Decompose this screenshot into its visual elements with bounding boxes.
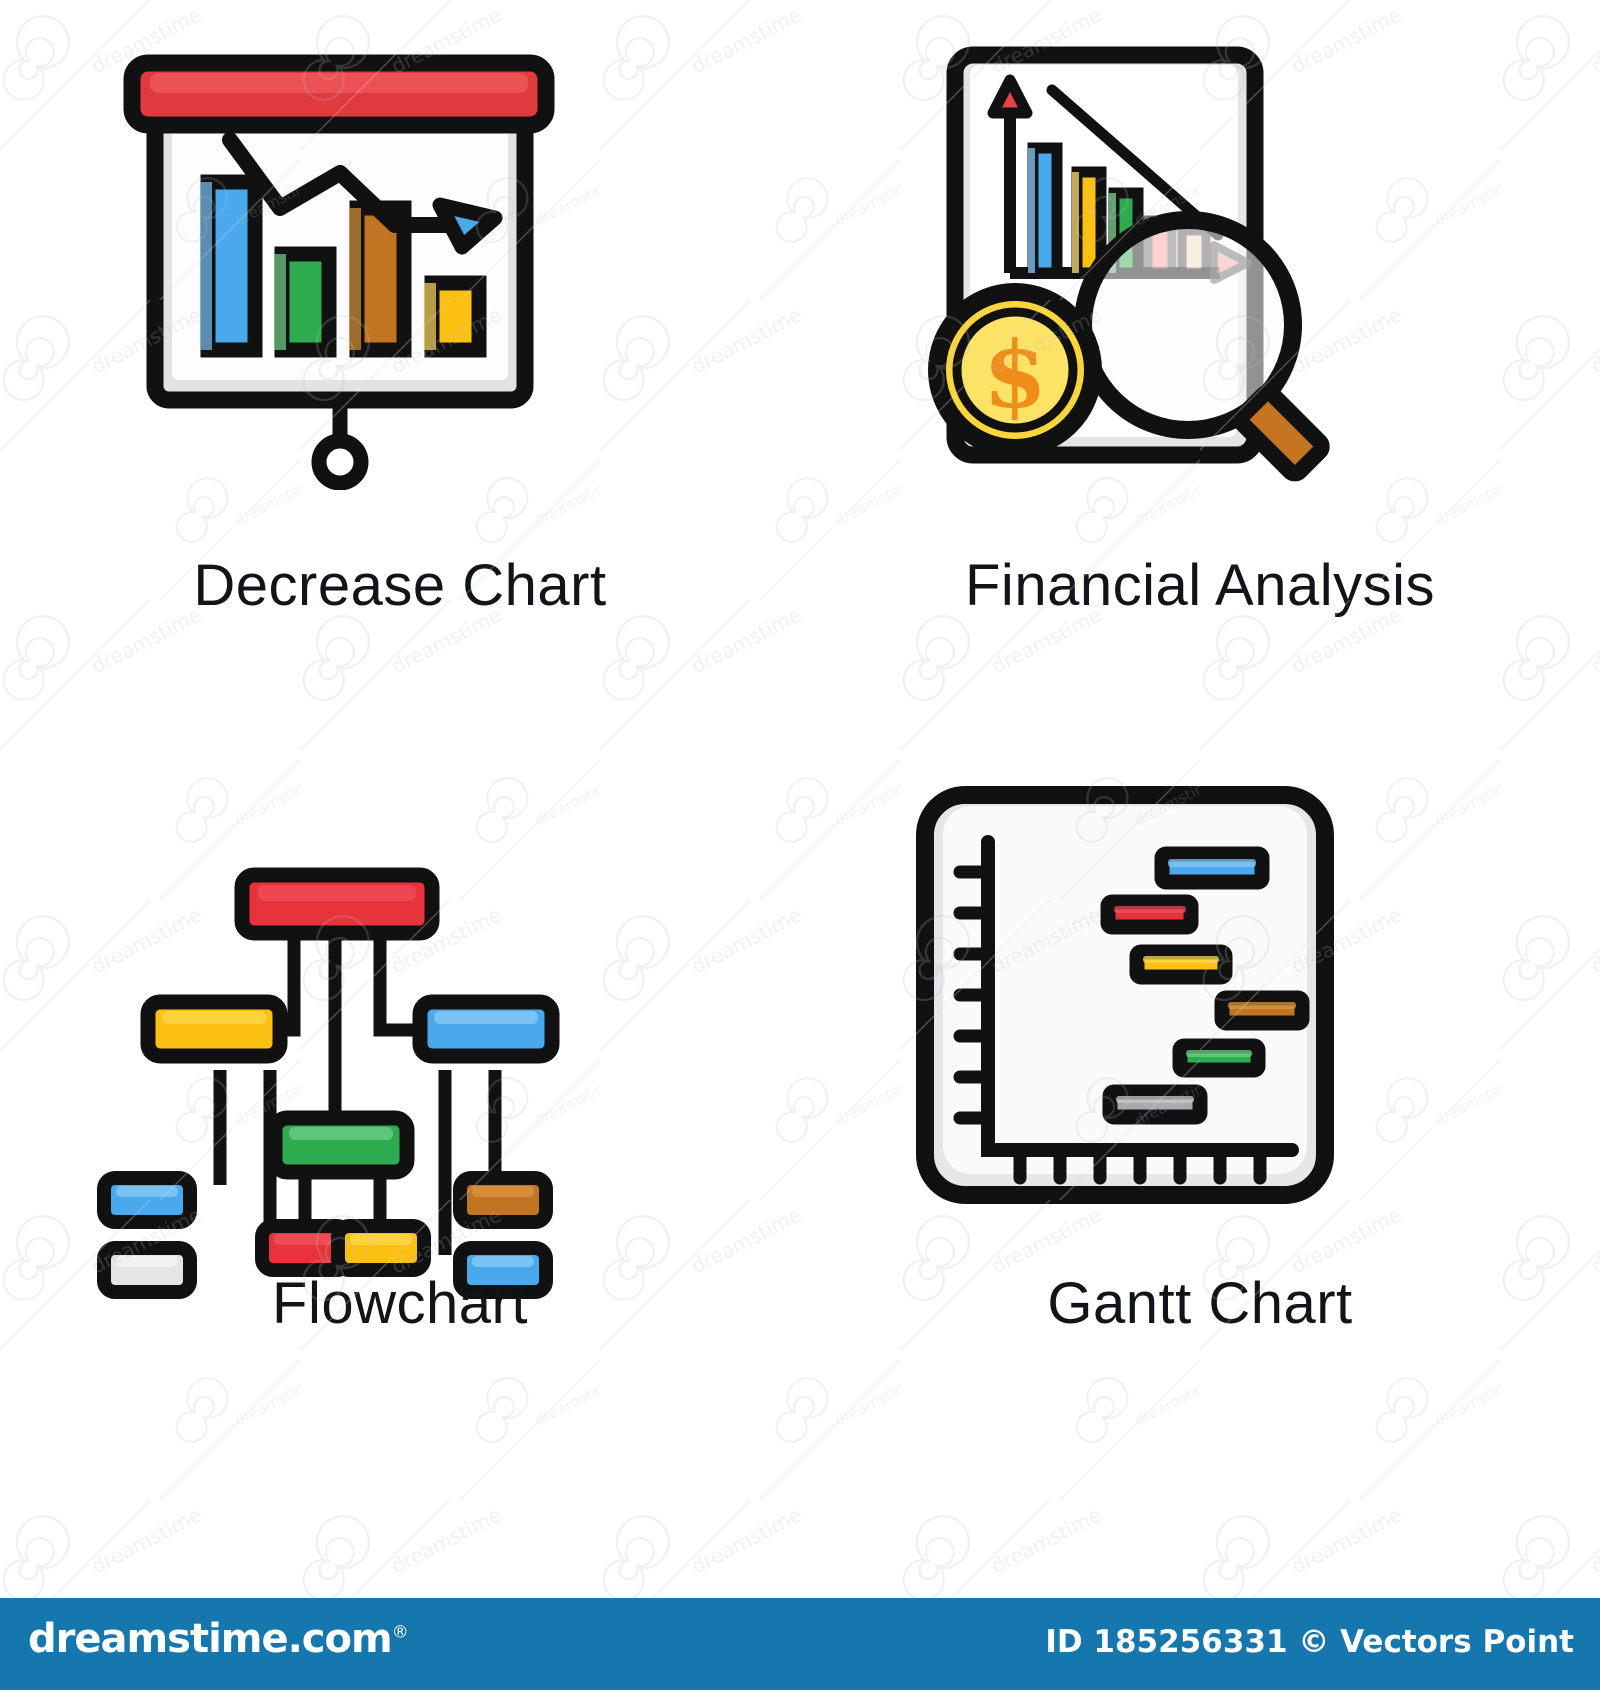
caption-flowchart: Flowchart [0, 1270, 800, 1337]
flow-node-right-branch [420, 1002, 552, 1056]
decrease-chart-icon [110, 40, 570, 495]
financial-analysis-icon: $ [900, 35, 1360, 500]
decrease-chart-svg [110, 40, 570, 490]
icon-cell-gantt-chart[interactable]: Gantt Chart [800, 770, 1600, 1540]
flow-leaf-left-upper [104, 1178, 190, 1222]
gantt-bar-5 [1180, 1046, 1258, 1070]
registered-mark: ® [392, 1623, 408, 1643]
gantt-bar-1 [1162, 854, 1262, 882]
caption-financial-analysis: Financial Analysis [800, 552, 1600, 619]
image-credit: ID 185256331 © Vectors Point [1045, 1624, 1574, 1660]
gantt-chart-svg [910, 780, 1340, 1230]
icon-cell-flowchart[interactable]: Flowchart [0, 770, 800, 1540]
flow-leaf-right-upper [460, 1178, 546, 1222]
dreamstime-logo[interactable]: dreamstime.com® [28, 1616, 408, 1662]
flowchart-icon [90, 830, 560, 1315]
footer-bar: dreamstime.com® ID 185256331 © Vectors P… [0, 1598, 1600, 1690]
gantt-y-ticks [960, 872, 988, 1118]
gantt-x-ticks [1020, 1150, 1260, 1178]
flow-leaf-center-right [338, 1226, 424, 1270]
gantt-bar-4 [1222, 998, 1302, 1023]
dreamstime-logo-text: dreamstime.com [28, 1616, 392, 1662]
gantt-bar-2 [1108, 902, 1191, 927]
gantt-bar-3 [1137, 952, 1225, 977]
financial-analysis-svg: $ [900, 35, 1360, 495]
gantt-bar-6 [1110, 1092, 1200, 1117]
flowchart-svg [90, 830, 560, 1310]
dollar-sign-glyph: $ [983, 321, 1047, 429]
icon-cell-financial-analysis[interactable]: $ Financial Analysis [800, 0, 1600, 770]
caption-gantt-chart: Gantt Chart [800, 1270, 1600, 1337]
flow-node-left-branch [148, 1002, 280, 1056]
icon-cell-decrease-chart[interactable]: Decrease Chart [0, 0, 800, 770]
icon-grid: Decrease Chart [0, 0, 1600, 1540]
caption-decrease-chart: Decrease Chart [0, 552, 800, 619]
flow-node-root [242, 875, 432, 933]
gantt-chart-icon [910, 780, 1340, 1235]
flow-node-center-branch [275, 1118, 407, 1172]
